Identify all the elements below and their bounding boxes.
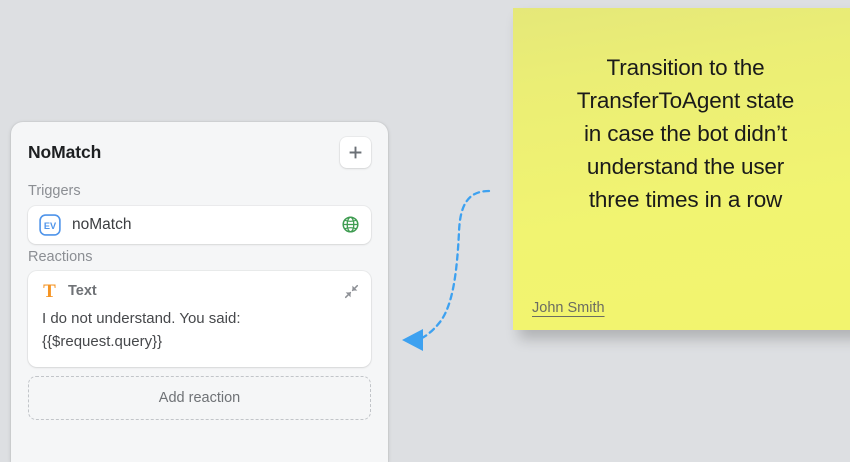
page-title: NoMatch — [28, 142, 101, 163]
connector-curve — [417, 191, 489, 340]
reaction-card-text[interactable]: T Text I do not understand. You said: {{… — [28, 271, 371, 367]
connector-arrowhead — [402, 329, 423, 351]
plus-icon — [347, 144, 364, 161]
sticky-note-text: Transition to the TransferToAgent state … — [535, 52, 836, 217]
add-reaction-button[interactable]: Add reaction — [28, 376, 371, 420]
reactions-section-label: Reactions — [28, 250, 371, 265]
add-trigger-button[interactable] — [340, 137, 371, 168]
text-type-icon: T — [40, 282, 59, 301]
state-card-header: NoMatch — [28, 122, 371, 178]
triggers-section-label: Triggers — [28, 184, 371, 199]
sticky-note-author[interactable]: John Smith — [532, 300, 605, 316]
trigger-row[interactable]: EV noMatch — [28, 206, 371, 244]
globe-icon[interactable] — [342, 216, 359, 233]
trigger-name: noMatch — [72, 216, 342, 234]
reaction-type-label: Text — [68, 283, 344, 299]
sticky-note[interactable]: Transition to the TransferToAgent state … — [513, 8, 850, 330]
state-card[interactable]: NoMatch Triggers EV noMatch Reactions T … — [11, 122, 388, 462]
event-icon: EV — [39, 214, 61, 236]
reaction-card-header: T Text — [40, 281, 359, 301]
reaction-text-body: I do not understand. You said: {{$reques… — [40, 308, 260, 354]
collapse-icon[interactable] — [344, 284, 359, 299]
svg-text:EV: EV — [44, 220, 57, 230]
